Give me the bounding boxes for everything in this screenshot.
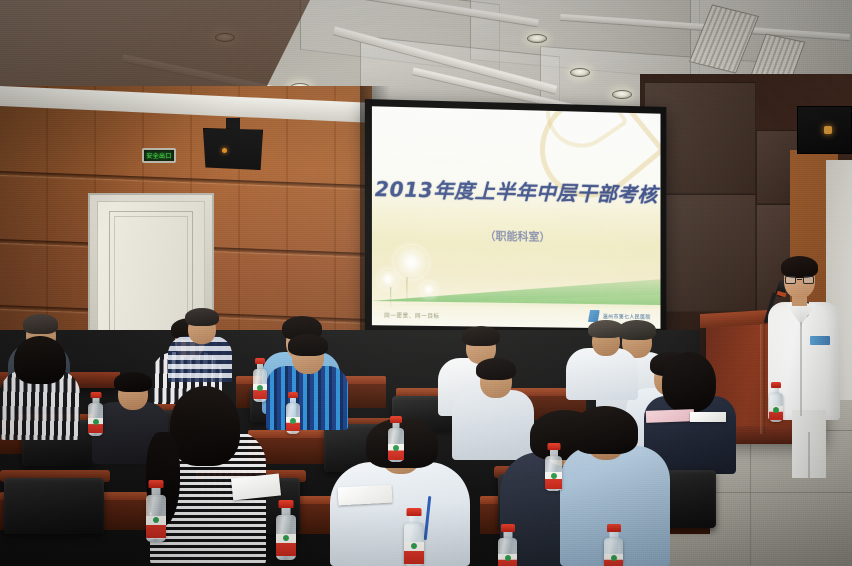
attendee-hair (572, 406, 638, 454)
water-bottle[interactable] (88, 392, 103, 436)
dandelion-icon (394, 245, 428, 280)
speaker-indicator-icon (222, 148, 227, 153)
slide-title: 2013年度上半年中层干部考核 (372, 173, 661, 208)
attendee-hair (662, 352, 716, 412)
water-bottle[interactable] (404, 508, 424, 566)
attendee-hair (23, 314, 58, 334)
coat-badge (810, 336, 830, 345)
attendee-body (266, 366, 348, 430)
water-bottle[interactable] (545, 443, 562, 491)
wall-speaker-left-icon (203, 128, 263, 170)
attendee-hair (476, 358, 516, 380)
water-bottle[interactable] (146, 480, 166, 542)
handout-paper[interactable] (338, 485, 393, 506)
ceiling-downlight (527, 34, 547, 43)
exit-sign-label: 安全出口 (146, 151, 172, 160)
water-bottle[interactable] (276, 500, 296, 560)
conference-room-photo: 安全出口 2013年度上半年中层干部考核 （职能科室） 同一愿景、同一目标 温州… (0, 0, 852, 566)
attendee-hair (14, 336, 66, 384)
water-bottle[interactable] (388, 416, 404, 462)
water-bottle[interactable] (769, 382, 783, 422)
attendee-hair (462, 326, 500, 346)
water-bottle[interactable] (498, 524, 517, 566)
logo-text: 温州市第七人民医院 (603, 313, 651, 321)
attendee-hair (288, 334, 328, 356)
speaker-indicator-icon (824, 126, 832, 134)
emergency-exit-sign: 安全出口 (142, 148, 176, 163)
water-bottle[interactable] (604, 524, 623, 566)
ceiling-downlight (612, 90, 632, 99)
water-bottle[interactable] (286, 392, 300, 434)
slide-surface: 2013年度上半年中层干部考核 （职能科室） 同一愿景、同一目标 温州市第七人民… (372, 106, 661, 329)
slide-subtitle: （职能科室） (372, 225, 661, 246)
attendee-hair (588, 320, 624, 338)
projection-screen: 2013年度上半年中层干部考核 （职能科室） 同一愿景、同一目标 温州市第七人民… (365, 99, 667, 335)
handout-paper[interactable] (690, 412, 726, 422)
dandelion-icon (378, 269, 398, 289)
attendee-hair (114, 372, 152, 392)
handout-paper[interactable] (646, 409, 694, 423)
chair[interactable] (4, 478, 104, 534)
attendee-hair (170, 386, 240, 466)
attendee-body (330, 462, 470, 566)
slide-footer-text: 同一愿景、同一目标 (384, 311, 440, 320)
ceiling-downlight (570, 68, 590, 77)
dandelion-icon (421, 282, 437, 298)
attendee-hair (185, 308, 219, 326)
glasses-icon (785, 276, 814, 284)
attendee-body (452, 390, 534, 460)
water-bottle[interactable] (253, 358, 267, 402)
